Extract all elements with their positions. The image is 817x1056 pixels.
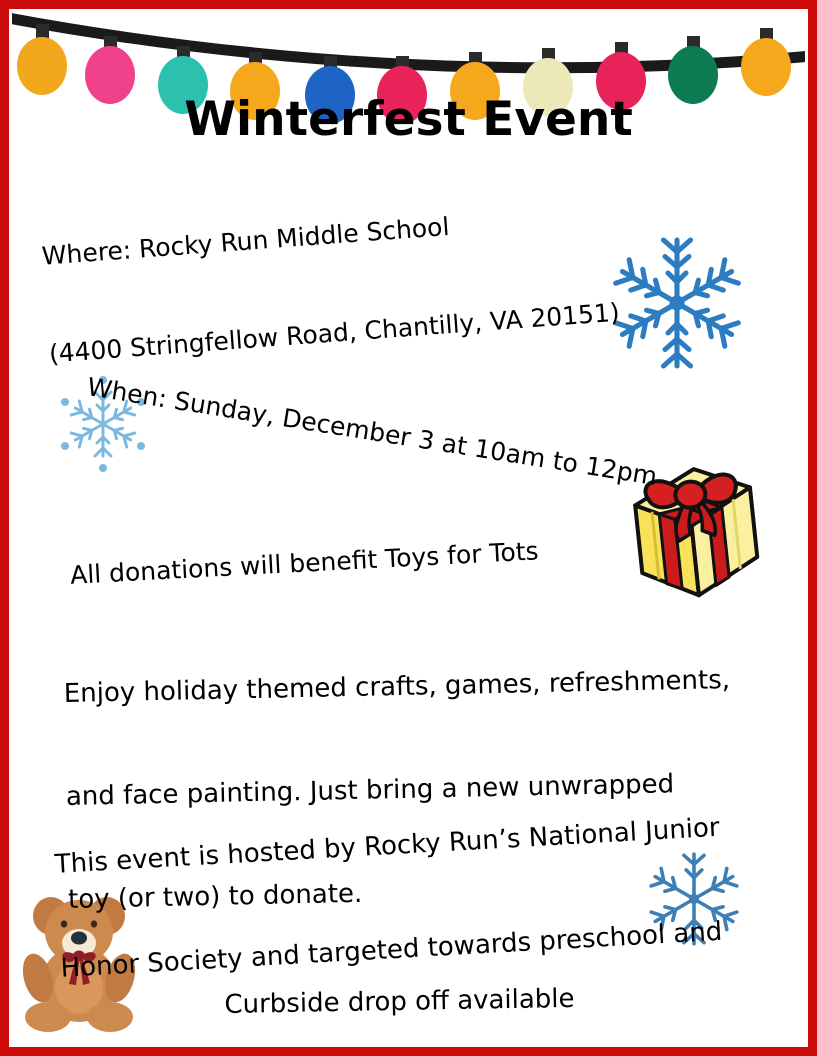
curbside-text-block: Curbside drop off available for Toys for… <box>223 915 578 1056</box>
when-line-1: When: Sunday, December 3 at 10am to 12pm <box>85 371 660 493</box>
snowflake-icon-large-right <box>602 228 752 378</box>
curbside-line-1: Curbside drop off available <box>224 982 575 1022</box>
benefit-line-1: All donations will benefit Toys for Tots <box>69 535 539 592</box>
bulb-orange-1 <box>17 24 67 95</box>
winterfest-flyer: Winterfest Event Where: Rocky Run Middle… <box>0 0 817 1056</box>
bulb-orange-11 <box>741 28 791 96</box>
page-title: Winterfest Event <box>0 92 817 147</box>
activities-line-1: Enjoy holiday themed crafts, games, refr… <box>63 663 730 711</box>
hosted-line-1: This event is hosted by Rocky Run’s Nati… <box>54 810 721 882</box>
where-line-1: Where: Rocky Run Middle School <box>41 199 614 273</box>
